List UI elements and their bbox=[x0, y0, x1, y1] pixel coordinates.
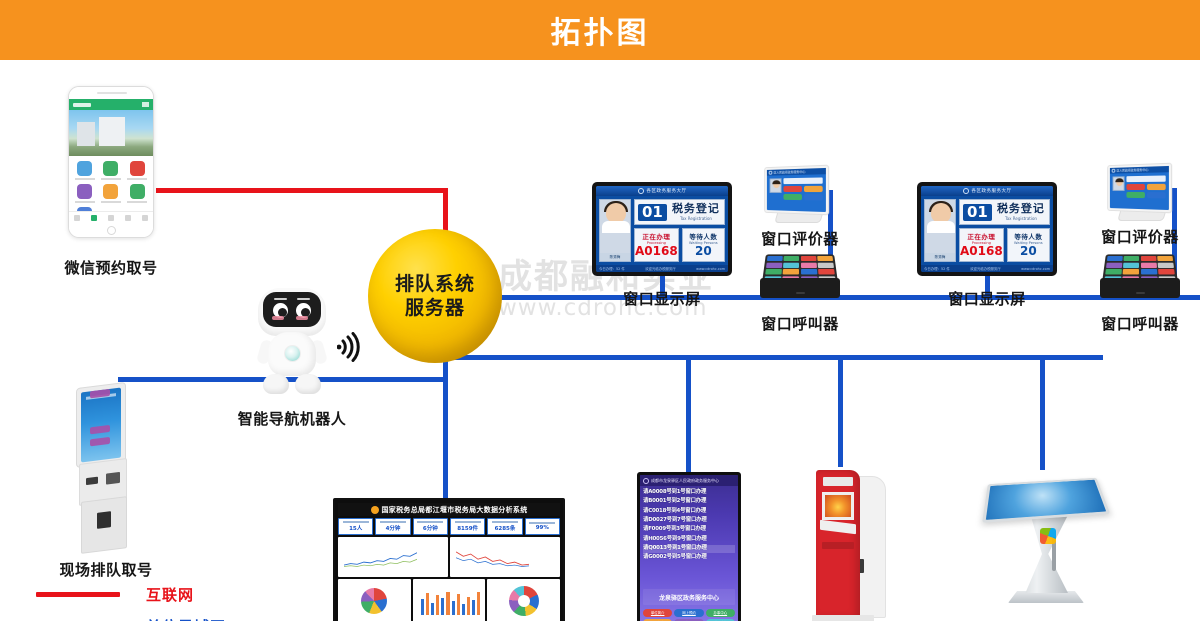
link-lan-selfservice bbox=[838, 355, 843, 467]
clerk-name: 陈秀梅 bbox=[600, 253, 630, 261]
queue-call-row: 请F0009号到3号窗口办理 bbox=[643, 526, 735, 534]
legend-label-internet: 互联网 bbox=[146, 584, 194, 605]
phone-home-button[interactable] bbox=[69, 224, 153, 237]
caller-left-label: 窗口呼叫器 bbox=[740, 313, 860, 334]
window-display-right-label: 窗口显示屏 bbox=[907, 288, 1067, 309]
kpi-value: 99% bbox=[536, 525, 549, 531]
kpi-value: 6285条 bbox=[495, 524, 516, 532]
evaluator-prompt bbox=[1126, 175, 1165, 182]
app-icon[interactable] bbox=[99, 161, 122, 180]
window-display-left[interactable]: 各区政务服务大厅 陈秀梅 01 税务登记 Tax Registration bbox=[592, 182, 732, 276]
window-display-right[interactable]: 各区政务服务大厅 陈秀梅 01 税务登记 Tax Registration bbox=[917, 182, 1057, 276]
touchquery-stand bbox=[1016, 515, 1068, 593]
wechat-label: 微信预约取号 bbox=[31, 257, 191, 278]
robot-leg-right bbox=[295, 374, 321, 394]
kpi-card: 8159件 bbox=[450, 518, 485, 535]
bigdata-logo-icon bbox=[371, 506, 379, 514]
legend-row-internet: 互联网 bbox=[36, 578, 286, 610]
robot-blush-left bbox=[272, 316, 284, 320]
kpi-card: 6分钟 bbox=[413, 518, 448, 535]
line-chart-card bbox=[338, 537, 448, 577]
topology-page: 拓扑图 成都融和实业 www.cdrohc.com bbox=[0, 0, 1200, 621]
server-label-line1: 排队系统 bbox=[395, 272, 475, 296]
pie-chart-card bbox=[338, 579, 411, 621]
line-chart-card bbox=[450, 537, 560, 577]
evaluator-logo-icon bbox=[769, 171, 772, 174]
service-name-en: Tax Registration bbox=[1005, 216, 1037, 221]
selfservice-top-slot bbox=[823, 477, 853, 486]
evaluator-title: 区人民政府政务服务中心 bbox=[1117, 168, 1149, 173]
selfservice-body bbox=[816, 470, 860, 618]
clerk-name: 陈秀梅 bbox=[925, 253, 955, 261]
link-lan-lower-trunk bbox=[443, 355, 1103, 360]
footer-mid: 欢迎光临办税服务厅 bbox=[970, 266, 1001, 271]
legend-label-lan: 单位局域网 bbox=[146, 616, 226, 621]
bigdata-chart-row-2 bbox=[338, 579, 560, 621]
compdisp-button[interactable]: 办事中心 bbox=[706, 609, 735, 617]
queue-call-row: 请D0027号到7号窗口办理 bbox=[643, 517, 735, 525]
robot-label: 智能导航机器人 bbox=[212, 408, 372, 429]
donut-chart-card bbox=[487, 579, 560, 621]
queue-call-row: 请A0008号到1号窗口办理 bbox=[643, 489, 735, 497]
caller-base bbox=[1100, 278, 1180, 298]
hall-logo-icon bbox=[963, 188, 969, 194]
kiosk-base bbox=[81, 496, 127, 554]
clerk-photo: 陈秀梅 bbox=[599, 199, 631, 262]
compdisp-center-title-bar: 龙泉驿区政务服务中心 bbox=[643, 589, 735, 605]
processing-label-cn: 正在办理 bbox=[642, 231, 670, 241]
window-display-footer: 今日办理：52 件 欢迎光临办税服务厅 www.cdrohc.com bbox=[921, 265, 1053, 272]
touchquery-screen[interactable] bbox=[982, 478, 1110, 523]
donut-chart bbox=[509, 586, 539, 616]
kpi-card: 15人 bbox=[338, 518, 373, 535]
bigdata-title: 国家税务总局都江堰市税务局大数据分析系统 bbox=[382, 505, 528, 515]
rating-button-very-satisfied[interactable] bbox=[783, 186, 801, 192]
service-name-cn: 税务登记 bbox=[672, 203, 720, 215]
hall-title: 各区政务服务大厅 bbox=[972, 188, 1012, 194]
kiosk-label: 现场排队取号 bbox=[26, 559, 186, 580]
kpi-card: 99% bbox=[525, 518, 560, 535]
queue-call-row: 请G0002号到5号窗口办理 bbox=[643, 554, 735, 562]
hall-logo-icon bbox=[638, 188, 644, 194]
rating-button-basic[interactable] bbox=[1126, 192, 1144, 198]
kpi-value: 4分钟 bbox=[386, 524, 401, 532]
phone-tabbar[interactable] bbox=[69, 211, 153, 224]
compdisp-header-title: 成都市龙泉驿区人民政府政务服务中心 bbox=[651, 478, 719, 484]
waiting-count: 20 bbox=[695, 245, 712, 258]
wifi-waves-icon bbox=[337, 332, 363, 362]
evaluator-clerk-photo bbox=[770, 178, 782, 193]
compdisp-button-grid[interactable]: 单位简介 网上预约 办事中心 办事指南 政务公开 联系我们 bbox=[640, 607, 738, 621]
robot-brow-right bbox=[297, 298, 310, 300]
footer-right: www.cdrohc.com bbox=[1021, 267, 1050, 271]
waiting-cell: 等待人数 Waiting Persons 20 bbox=[682, 228, 725, 262]
processing-ticket: A0168 bbox=[635, 245, 678, 258]
rating-button-very-satisfied[interactable] bbox=[1126, 184, 1144, 190]
floor-queue-kiosk[interactable] bbox=[70, 385, 142, 555]
rating-button-satisfied[interactable] bbox=[803, 186, 822, 192]
windows-logo-icon bbox=[1040, 528, 1056, 544]
caller-right-label: 窗口呼叫器 bbox=[1080, 313, 1200, 334]
kpi-card: 6285条 bbox=[487, 518, 522, 535]
comprehensive-display[interactable]: 成都市龙泉驿区人民政府政务服务中心 请A0008号到1号窗口办理 请B0001号… bbox=[637, 472, 741, 621]
evaluator-prompt bbox=[783, 177, 822, 184]
counter-number: 01 bbox=[963, 204, 992, 221]
link-lan-compdisp bbox=[686, 355, 691, 474]
bigdata-kpi-row: 15人 4分钟 6分钟 8159件 6285条 99% bbox=[338, 518, 560, 535]
queue-call-row: 请B0001号到2号窗口办理 bbox=[643, 498, 735, 506]
evaluator-right-label: 窗口评价器 bbox=[1080, 226, 1200, 247]
caller-base bbox=[760, 278, 840, 298]
queue-call-row: 请C0018号到4号窗口办理 bbox=[643, 508, 735, 516]
bigdata-chart-row-1 bbox=[338, 537, 560, 577]
footer-mid: 欢迎光临办税服务厅 bbox=[645, 266, 676, 271]
page-title: 拓扑图 bbox=[551, 8, 650, 52]
window-display-left-label: 窗口显示屏 bbox=[582, 288, 742, 309]
window-evaluator-right[interactable]: 区人民政府政务服务中心 bbox=[1105, 164, 1179, 226]
waiting-cell: 等待人数 Waiting Persons 20 bbox=[1007, 228, 1050, 262]
window-evaluator-left[interactable]: 区人民政府政务服务中心 bbox=[762, 166, 836, 228]
legend: 互联网 单位局域网 无线网络 bbox=[36, 578, 286, 621]
queue-call-list: 请A0008号到1号窗口办理 请B0001号到2号窗口办理 请C0018号到4号… bbox=[640, 486, 738, 587]
app-icon[interactable] bbox=[73, 161, 96, 180]
selfservice-base bbox=[812, 615, 874, 621]
selfservice-screen[interactable] bbox=[822, 492, 854, 520]
diagram-canvas: 成都融和实业 www.cdrohc.com bbox=[0, 60, 1200, 621]
compdisp-center-title: 龙泉驿区政务服务中心 bbox=[659, 593, 719, 602]
hall-title: 各区政务服务大厅 bbox=[647, 188, 687, 194]
evaluator-clerk-photo bbox=[1113, 176, 1125, 191]
kpi-value: 15人 bbox=[349, 524, 362, 532]
service-name-cn: 税务登记 bbox=[997, 203, 1045, 215]
app-icon[interactable] bbox=[126, 161, 149, 180]
evaluator-rating-buttons[interactable] bbox=[783, 186, 822, 201]
phone-app-header bbox=[69, 99, 153, 110]
navigation-robot[interactable] bbox=[250, 288, 334, 400]
queue-call-row: 请H0056号到9号窗口办理 bbox=[643, 536, 735, 544]
compdisp-button[interactable]: 网上预约 bbox=[674, 609, 703, 617]
kiosk-screen[interactable] bbox=[76, 382, 126, 468]
window-display-footer: 今日办理：52 件 欢迎光临办税服务厅 www.cdrohc.com bbox=[596, 265, 728, 272]
window-display-hall-bar: 各区政务服务大厅 bbox=[921, 186, 1053, 196]
bigdata-title-bar: 国家税务总局都江堰市税务局大数据分析系统 bbox=[338, 503, 560, 516]
service-name-en: Tax Registration bbox=[680, 216, 712, 221]
evaluator-logo-icon bbox=[1112, 169, 1115, 172]
kpi-value: 8159件 bbox=[457, 524, 478, 532]
rating-button-unsatisfied[interactable] bbox=[1146, 192, 1165, 198]
robot-blush-right bbox=[296, 316, 308, 320]
kpi-value: 6分钟 bbox=[423, 524, 438, 532]
waiting-count: 20 bbox=[1020, 245, 1037, 258]
processing-cell: 正在办理 Processing A0168 bbox=[634, 228, 679, 262]
phone-notch bbox=[69, 87, 153, 99]
robot-brow-left bbox=[274, 298, 287, 300]
footer-right: www.cdrohc.com bbox=[696, 267, 725, 271]
window-caller-right[interactable] bbox=[1100, 252, 1180, 300]
selfservice-keyboard[interactable] bbox=[820, 520, 856, 534]
server-label-line2: 服务器 bbox=[405, 296, 465, 320]
compdisp-logo-icon bbox=[643, 478, 649, 484]
rating-button-basic[interactable] bbox=[783, 194, 801, 200]
queue-call-row-highlighted: 请Q0013号到1号窗口办理 bbox=[643, 545, 735, 553]
kpi-card: 4分钟 bbox=[375, 518, 410, 535]
pie-chart bbox=[361, 588, 387, 614]
queue-system-server[interactable]: 排队系统 服务器 bbox=[368, 229, 502, 363]
robot-leg-left bbox=[263, 374, 289, 394]
page-header: 拓扑图 bbox=[0, 0, 1200, 60]
phone-hero-image bbox=[69, 110, 153, 156]
self-service-machine[interactable] bbox=[808, 460, 894, 621]
processing-ticket: A0168 bbox=[960, 245, 1003, 258]
evaluator-screen[interactable]: 区人民政府政务服务中心 bbox=[1107, 163, 1172, 214]
link-lan-bigdata bbox=[443, 355, 448, 500]
robot-core-light bbox=[284, 345, 301, 362]
bar-chart-card bbox=[413, 579, 486, 621]
waiting-label-cn: 等待人数 bbox=[689, 231, 717, 241]
legend-row-lan: 单位局域网 bbox=[36, 610, 286, 621]
app-icon[interactable] bbox=[73, 184, 96, 203]
app-icon[interactable] bbox=[126, 184, 149, 203]
legend-swatch-internet bbox=[36, 592, 120, 597]
robot-body bbox=[268, 332, 316, 376]
rating-button-unsatisfied[interactable] bbox=[803, 194, 822, 200]
clerk-photo: 陈秀梅 bbox=[924, 199, 956, 262]
bigdata-dashboard[interactable]: 国家税务总局都江堰市税务局大数据分析系统 15人 4分钟 6分钟 8159件 6… bbox=[333, 498, 565, 621]
window-display-hall-bar: 各区政务服务大厅 bbox=[596, 186, 728, 196]
link-internet-phone-h bbox=[156, 188, 448, 193]
processing-label-cn: 正在办理 bbox=[967, 231, 995, 241]
wechat-phone[interactable] bbox=[68, 86, 154, 238]
app-icon[interactable] bbox=[99, 184, 122, 203]
processing-cell: 正在办理 Processing A0168 bbox=[959, 228, 1004, 262]
evaluator-left-label: 窗口评价器 bbox=[740, 228, 860, 249]
waiting-label-cn: 等待人数 bbox=[1014, 231, 1042, 241]
evaluator-screen[interactable]: 区人民政府政务服务中心 bbox=[764, 165, 829, 216]
evaluator-title: 区人民政府政务服务中心 bbox=[774, 170, 806, 175]
rating-button-satisfied[interactable] bbox=[1146, 184, 1165, 190]
robot-face-screen bbox=[263, 292, 321, 327]
link-lan-touchquery bbox=[1040, 355, 1045, 470]
compdisp-header-bar: 成都市龙泉驿区人民政府政务服务中心 bbox=[640, 475, 738, 486]
window-caller-left[interactable] bbox=[760, 252, 840, 300]
touch-query-machine[interactable] bbox=[986, 465, 1110, 621]
evaluator-rating-buttons[interactable] bbox=[1126, 184, 1165, 199]
kiosk-display bbox=[81, 388, 121, 463]
compdisp-button[interactable]: 单位简介 bbox=[643, 609, 672, 617]
robot-head bbox=[258, 288, 326, 336]
counter-number: 01 bbox=[638, 204, 667, 221]
bar-chart bbox=[421, 589, 481, 615]
footer-left: 今日办理：52 件 bbox=[599, 266, 625, 271]
footer-left: 今日办理：52 件 bbox=[924, 266, 950, 271]
selfservice-drawer bbox=[822, 542, 854, 549]
